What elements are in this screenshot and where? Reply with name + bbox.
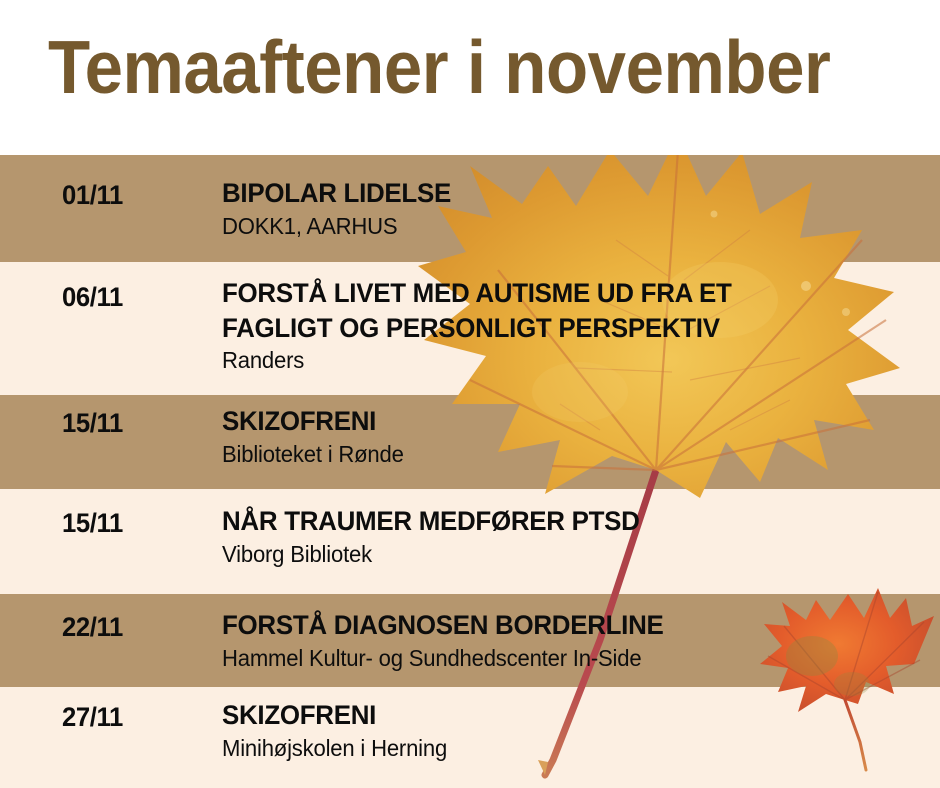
- page-title: Temaaftener i november: [48, 28, 830, 107]
- poster-header: Temaaftener i november: [0, 0, 940, 155]
- event-body: BIPOLAR LIDELSE DOKK1, AARHUS: [222, 176, 940, 241]
- event-venue: Viborg Bibliotek: [222, 540, 911, 570]
- event-date: 06/11: [62, 282, 123, 313]
- event-date: 27/11: [62, 702, 123, 733]
- event-body: FORSTÅ DIAGNOSEN BORDERLINE Hammel Kultu…: [222, 608, 940, 673]
- event-title: SKIZOFRENI: [222, 404, 911, 439]
- event-venue: DOKK1, AARHUS: [222, 212, 911, 242]
- event-venue: Minihøjskolen i Herning: [222, 734, 911, 764]
- poster: Temaaftener i november 01/11 BIPOLAR LID…: [0, 0, 940, 788]
- event-date: 15/11: [62, 408, 123, 439]
- event-date: 01/11: [62, 180, 123, 211]
- event-date: 15/11: [62, 508, 123, 539]
- event-title: FORSTÅ DIAGNOSEN BORDERLINE: [222, 608, 911, 643]
- event-title: FORSTÅ LIVET MED AUTISME UD FRA ET FAGLI…: [222, 276, 911, 345]
- event-body: NÅR TRAUMER MEDFØRER PTSD Viborg Bibliot…: [222, 504, 940, 569]
- event-venue: Randers: [222, 346, 911, 376]
- event-venue: Biblioteket i Rønde: [222, 440, 911, 470]
- event-date: 22/11: [62, 612, 123, 643]
- event-title: SKIZOFRENI: [222, 698, 911, 733]
- event-body: SKIZOFRENI Biblioteket i Rønde: [222, 404, 940, 469]
- event-body: FORSTÅ LIVET MED AUTISME UD FRA ET FAGLI…: [222, 276, 940, 376]
- event-venue: Hammel Kultur- og Sundhedscenter In-Side: [222, 644, 911, 674]
- event-title: NÅR TRAUMER MEDFØRER PTSD: [222, 504, 911, 539]
- event-body: SKIZOFRENI Minihøjskolen i Herning: [222, 698, 940, 763]
- event-title: BIPOLAR LIDELSE: [222, 176, 911, 211]
